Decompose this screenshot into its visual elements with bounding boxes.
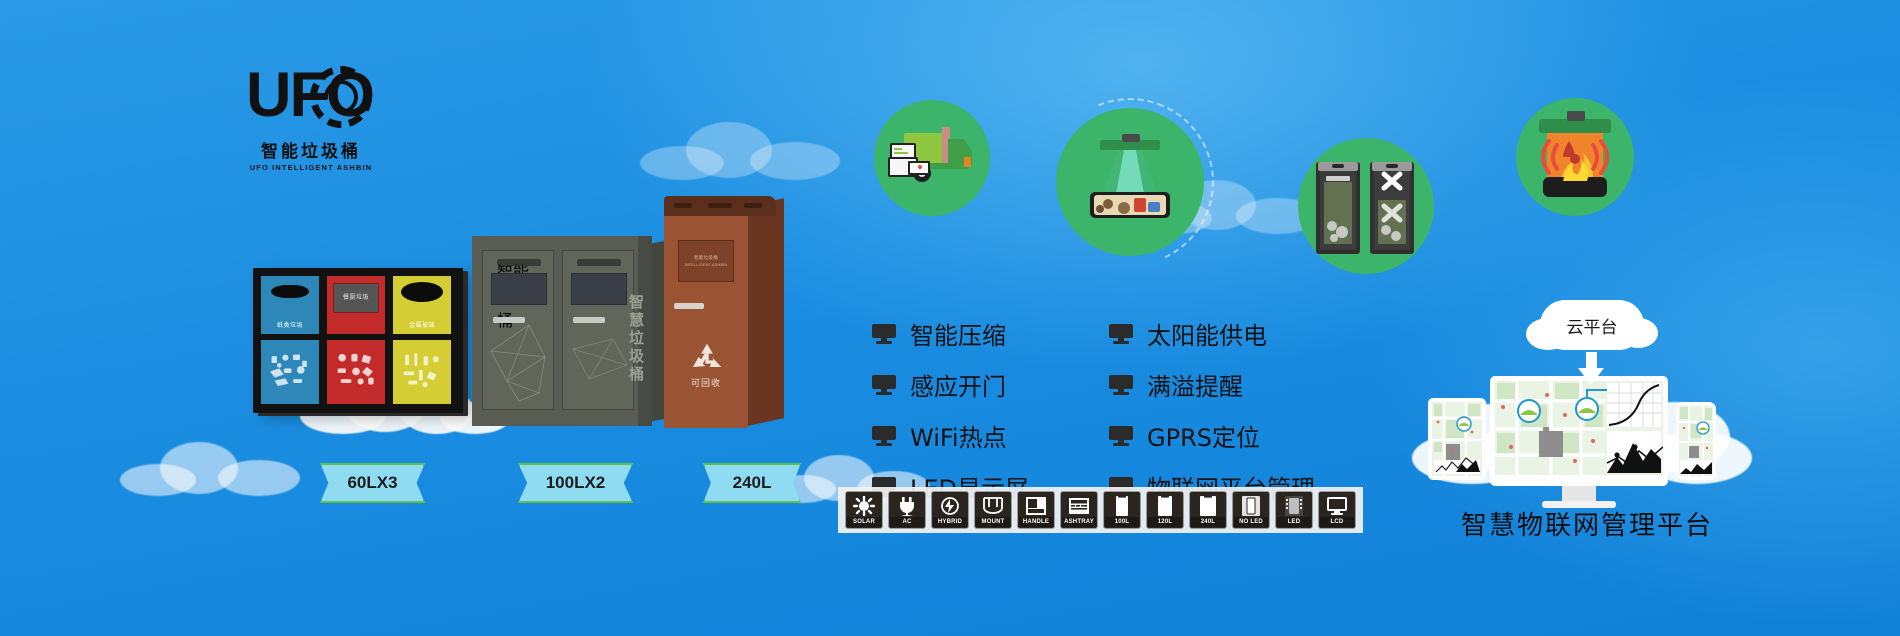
feature-label: 感应开门 — [910, 367, 1006, 402]
lid-slot — [708, 203, 732, 208]
feature-label: WiFi热点 — [910, 418, 1007, 453]
product-three-compartment-bin: 纸类垃圾 餐厨垃圾 金属玻璃 — [253, 268, 463, 413]
compartment-top-metal-glass: 金属玻璃 — [393, 276, 451, 334]
capacity-label-100lx2: 100LX2 — [518, 463, 633, 503]
polygon-decoration-icon — [569, 339, 631, 421]
phone-screen — [1679, 406, 1713, 476]
fire-alarm-icon — [1516, 98, 1634, 216]
feature-item: 感应开门 — [872, 367, 1029, 402]
feature-list: 智能压缩 感应开门 WiFi热点 LED显示屏 太阳能供电 满溢提醒 — [872, 316, 1315, 504]
litter-graphic-icon — [399, 350, 445, 390]
litter-graphic-icon — [333, 350, 379, 390]
option-label: 240L — [1191, 517, 1225, 527]
door-panel-caption — [577, 259, 621, 266]
product-single-240l-bin: 智能垃圾桶 INTELLIGENT ASHBIN 可回收 — [664, 196, 784, 428]
option-solar[interactable]: SOLAR — [845, 491, 883, 529]
cloud-decoration — [640, 120, 840, 180]
lid-slot — [674, 203, 692, 208]
option-240l[interactable]: 240L — [1189, 491, 1227, 529]
compartment-top-paper: 纸类垃圾 — [261, 276, 319, 334]
door-handle — [674, 303, 704, 309]
device-smartphone — [1676, 402, 1716, 480]
device-desktop-monitor — [1490, 376, 1668, 486]
bin-side-text: 智慧垃圾桶 — [625, 294, 646, 384]
map-dashboard-graphic — [1495, 381, 1663, 475]
option-lcd[interactable]: LCD — [1318, 491, 1356, 529]
option-hybrid[interactable]: HYBRID — [931, 491, 969, 529]
highlight-circle-fire-alarm — [1516, 98, 1634, 216]
feature-label: 太阳能供电 — [1147, 316, 1267, 351]
monitor-bullet-icon — [872, 375, 896, 394]
option-icon-strip: SOLAR AC HYBRID MOUNT — [838, 487, 1363, 533]
map-dashboard-graphic — [1432, 402, 1482, 476]
no-led-icon — [1233, 495, 1269, 517]
monitor-bullet-icon — [1109, 324, 1133, 343]
monitor-bullet-icon — [872, 426, 896, 445]
option-label: SOLAR — [847, 517, 881, 527]
recycle-label: 可回收 — [664, 376, 748, 389]
highlight-circle-fill-sensor — [1056, 108, 1204, 256]
logo-english-name: UFO INTELLIGENT ASHBIN — [246, 163, 376, 172]
feature-label: 满溢提醒 — [1147, 367, 1243, 402]
feature-item: WiFi热点 — [872, 418, 1029, 453]
option-label: NO LED — [1234, 517, 1268, 527]
option-label: LED — [1277, 517, 1311, 527]
monitor-bullet-icon — [1109, 426, 1133, 445]
option-label: HYBRID — [933, 517, 967, 527]
waste-slot — [401, 282, 443, 302]
compartment-label: 餐厨垃圾 — [327, 292, 385, 301]
logo-chinese-name: 智能垃圾桶 — [246, 142, 376, 161]
feature-column-left: 智能压缩 感应开门 WiFi热点 LED显示屏 — [872, 316, 1029, 504]
logo-mark: UFO — [246, 62, 376, 140]
feature-item: 满溢提醒 — [1109, 367, 1315, 402]
lcd-screen-icon — [1319, 495, 1355, 517]
platform-title: 智慧物联网管理平台 — [1442, 505, 1732, 542]
device-tablet — [1428, 398, 1486, 480]
led-display-panel — [571, 273, 627, 305]
cloud-decoration — [120, 440, 300, 496]
monitor-bullet-icon — [872, 324, 896, 343]
option-label: LCD — [1320, 517, 1354, 527]
monitor-base — [1542, 501, 1616, 508]
compartment-bottom-metal-glass — [393, 340, 451, 404]
polygon-decoration-icon — [489, 321, 551, 403]
sun-icon — [846, 495, 882, 517]
option-label: MOUNT — [976, 517, 1010, 527]
bin-door-right — [562, 250, 634, 410]
waste-slot — [271, 285, 309, 298]
feature-item: 太阳能供电 — [1109, 316, 1315, 351]
monitor-stand — [1562, 486, 1596, 502]
plug-icon — [889, 495, 925, 517]
capacity-label-240l: 240L — [703, 463, 801, 503]
feature-item: GPRS定位 — [1109, 418, 1315, 453]
monitor-bullet-icon — [1109, 375, 1133, 394]
litter-graphic-icon — [267, 350, 313, 390]
tablet-screen — [1432, 402, 1482, 476]
bin-sensor-icon — [1056, 108, 1204, 256]
feature-label: GPRS定位 — [1147, 418, 1260, 453]
door-handle — [573, 317, 605, 323]
garbage-truck-icon — [874, 100, 990, 216]
handle-icon — [1018, 495, 1054, 517]
bin-100l-icon — [1104, 495, 1140, 517]
compartment-label: 金属玻璃 — [393, 320, 451, 329]
bin-front-panel: 智能垃圾桶 INTELLIGENT ASHBIN 可回收 — [664, 210, 748, 428]
option-120l[interactable]: 120L — [1146, 491, 1184, 529]
capacity-label-60lx3: 60LX3 — [320, 463, 425, 503]
option-mount[interactable]: MOUNT — [974, 491, 1012, 529]
compartment-label: 纸类垃圾 — [261, 320, 319, 329]
bin-120l-icon — [1147, 495, 1183, 517]
cloud-platform-label: 云平台 — [1540, 300, 1644, 350]
ashtray-icon — [1061, 495, 1097, 517]
lid-slot — [744, 203, 762, 208]
panel-caption-cn: 智能垃圾桶 — [679, 255, 733, 261]
monitor-screen — [1495, 381, 1663, 475]
highlight-circle-compaction — [1298, 138, 1434, 274]
wall-mount-icon — [975, 495, 1011, 517]
panel-caption-en: INTELLIGENT ASHBIN — [679, 262, 733, 268]
led-screen-icon — [1276, 495, 1312, 517]
hybrid-power-icon — [932, 495, 968, 517]
bin-240l-icon — [1190, 495, 1226, 517]
feature-label: 智能压缩 — [910, 316, 1006, 351]
option-label: AC — [890, 517, 924, 527]
option-label: 120L — [1148, 517, 1182, 527]
option-label: 100L — [1105, 517, 1139, 527]
brand-logo: UFO 智能垃圾桶 UFO INTELLIGENT ASHBIN — [246, 62, 376, 172]
door-panel-caption: 智能垃圾桶 — [497, 259, 541, 266]
bin-door-left: 智能垃圾桶 — [482, 250, 554, 410]
option-label: ASHTRAY — [1062, 517, 1096, 527]
option-led[interactable]: LED — [1275, 491, 1313, 529]
compartment-bottom-kitchen — [327, 340, 385, 404]
logo-ring-icon — [310, 66, 372, 128]
option-ashtray[interactable]: ASHTRAY — [1060, 491, 1098, 529]
bin-side-panel — [748, 198, 784, 426]
led-display-panel — [491, 273, 547, 305]
option-100l[interactable]: 100L — [1103, 491, 1141, 529]
recycle-icon — [690, 342, 724, 372]
compartment-top-kitchen: 餐厨垃圾 — [327, 276, 385, 334]
download-arrow-icon — [1578, 352, 1604, 386]
compartment-bottom-paper — [261, 340, 319, 404]
option-label: HANDLE — [1019, 517, 1053, 527]
two-bins-compaction-icon — [1298, 138, 1434, 274]
product-double-smart-bin: 智能垃圾桶 智慧垃圾桶 — [472, 236, 652, 426]
feature-item: 智能压缩 — [872, 316, 1029, 351]
option-ac[interactable]: AC — [888, 491, 926, 529]
highlight-circle-collection-truck — [874, 100, 990, 216]
feature-column-right: 太阳能供电 满溢提醒 GPRS定位 物联网平台管理 — [1109, 316, 1315, 504]
display-panel: 智能垃圾桶 INTELLIGENT ASHBIN — [678, 240, 734, 282]
bin-lid — [664, 196, 776, 216]
option-no-led[interactable]: NO LED — [1232, 491, 1270, 529]
promo-banner: UFO 智能垃圾桶 UFO INTELLIGENT ASHBIN 纸类垃圾 餐厨… — [0, 0, 1900, 636]
map-dashboard-graphic — [1679, 406, 1713, 476]
option-handle[interactable]: HANDLE — [1017, 491, 1055, 529]
